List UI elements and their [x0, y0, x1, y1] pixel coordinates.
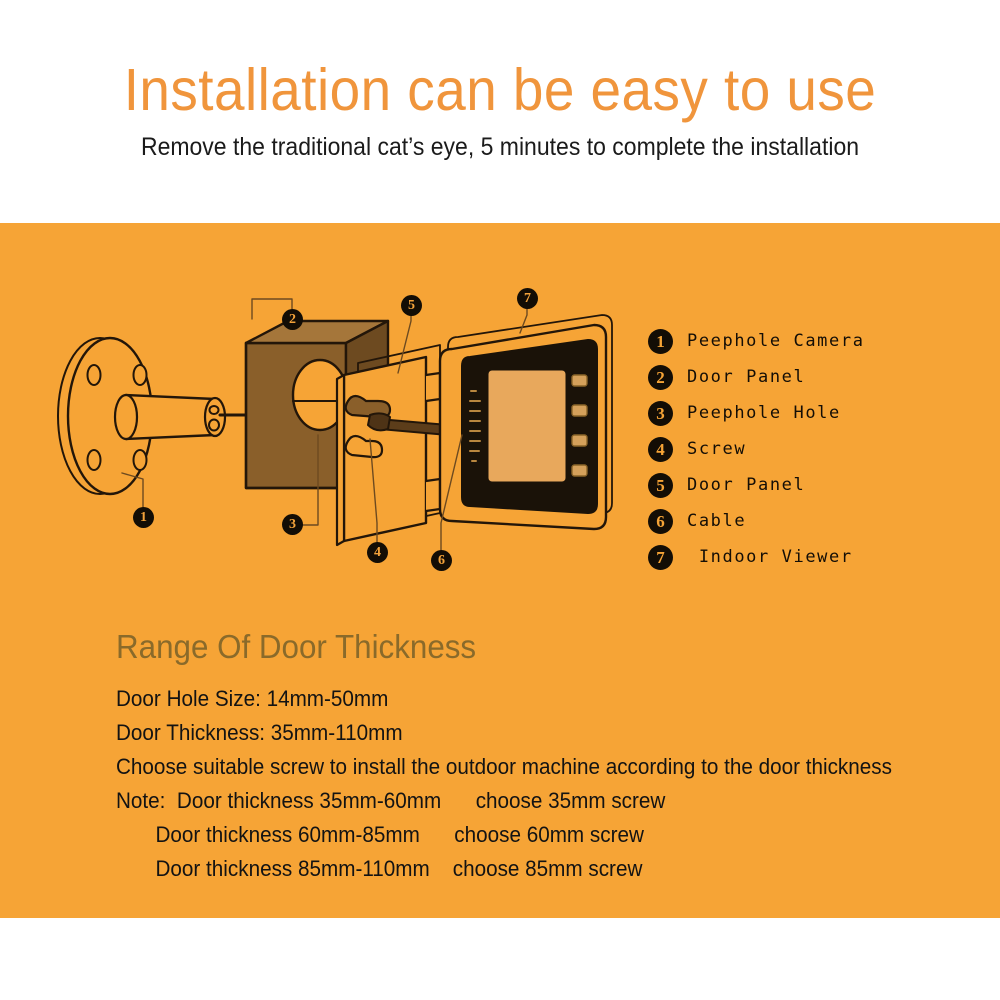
callout-badge-5: 5	[401, 295, 422, 316]
exploded-view-diagram: 1 2 3 4 5 6 7	[0, 223, 640, 588]
infographic-page: Installation can be easy to use Remove t…	[0, 0, 1000, 1000]
legend-label-4: Screw	[687, 439, 746, 459]
legend-item-5: 5 Door Panel	[648, 467, 978, 503]
legend-badge-7: 7	[648, 545, 673, 570]
legend-badge-3: 3	[648, 401, 673, 426]
callout-badge-6: 6	[431, 550, 452, 571]
orange-content-panel: 1 2 3 4 5 6 7 1 Peephole Camera 2 Door P…	[0, 223, 1000, 918]
legend-item-2: 2 Door Panel	[648, 359, 978, 395]
legend-label-6: Cable	[687, 511, 746, 531]
header-section: Installation can be easy to use Remove t…	[0, 0, 1000, 223]
legend-label-1: Peephole Camera	[687, 331, 865, 351]
spec-line-door-thickness: Door Thickness: 35mm-110mm	[116, 716, 924, 750]
callout-badge-2: 2	[282, 309, 303, 330]
legend-badge-1: 1	[648, 329, 673, 354]
legend-label-7: Indoor Viewer	[687, 547, 853, 567]
legend-item-4: 4 Screw	[648, 431, 978, 467]
legend-badge-6: 6	[648, 509, 673, 534]
peephole-camera-part	[58, 338, 246, 494]
spec-line-choose-screw: Choose suitable screw to install the out…	[116, 750, 924, 784]
callout-badge-7: 7	[517, 288, 538, 309]
callout-badge-4: 4	[367, 542, 388, 563]
legend-item-3: 3 Peephole Hole	[648, 395, 978, 431]
spec-line-door-hole-size: Door Hole Size: 14mm-50mm	[116, 682, 924, 716]
legend-item-7: 7 Indoor Viewer	[648, 539, 978, 575]
indoor-viewer-part	[440, 315, 612, 529]
legend-item-1: 1 Peephole Camera	[648, 323, 978, 359]
callout-badge-3: 3	[282, 514, 303, 535]
page-title: Installation can be easy to use	[35, 58, 965, 122]
spec-line-note-85-110: Door thickness 85mm-110mm choose 85mm sc…	[116, 852, 924, 886]
legend-label-5: Door Panel	[687, 475, 805, 495]
legend-item-6: 6 Cable	[648, 503, 978, 539]
door-thickness-spec-block: Range Of Door Thickness Door Hole Size: …	[116, 628, 976, 886]
page-subtitle: Remove the traditional cat’s eye, 5 minu…	[40, 132, 960, 162]
legend-label-3: Peephole Hole	[687, 403, 841, 423]
spec-line-note-60-85: Door thickness 60mm-85mm choose 60mm scr…	[116, 818, 924, 852]
spec-heading: Range Of Door Thickness	[116, 628, 933, 666]
callout-badge-1: 1	[133, 507, 154, 528]
legend-badge-4: 4	[648, 437, 673, 462]
legend-badge-2: 2	[648, 365, 673, 390]
legend-label-2: Door Panel	[687, 367, 805, 387]
spec-line-note-35-60: Note: Door thickness 35mm-60mm choose 35…	[116, 784, 924, 818]
legend-badge-5: 5	[648, 473, 673, 498]
parts-legend-list: 1 Peephole Camera 2 Door Panel 3 Peephol…	[648, 323, 978, 575]
